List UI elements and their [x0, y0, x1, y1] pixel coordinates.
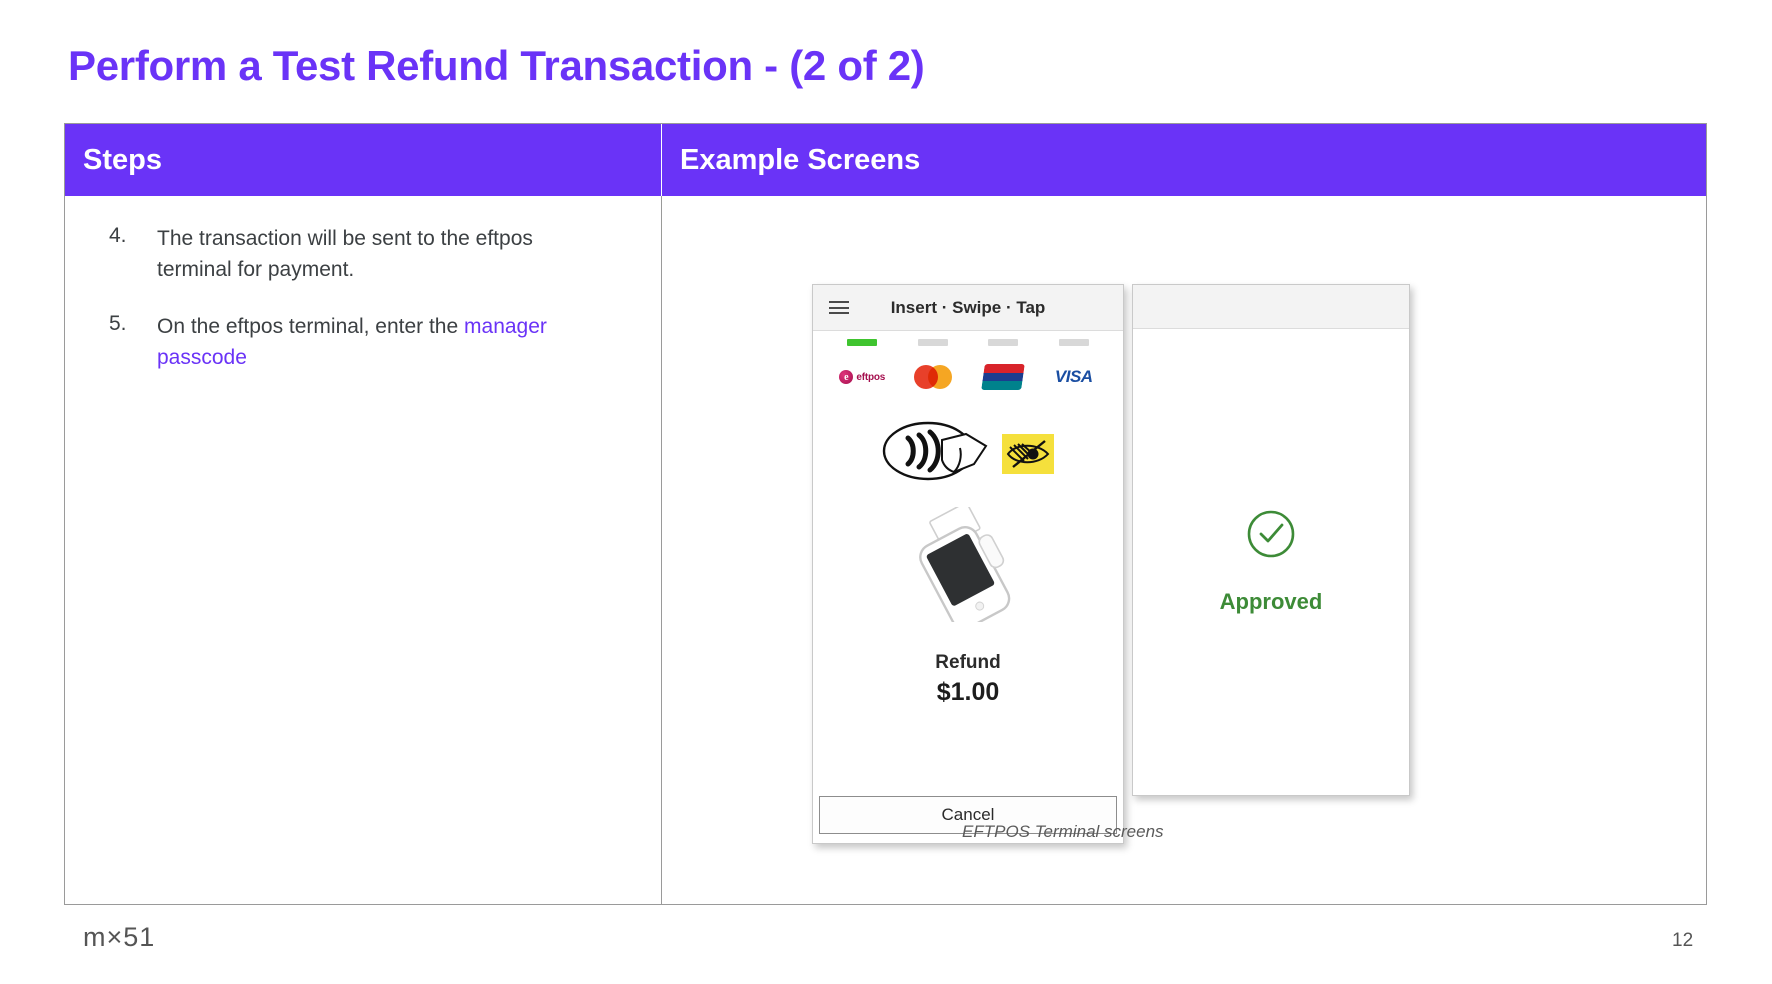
screens-caption: EFTPOS Terminal screens	[962, 822, 1164, 842]
step-text-plain: The transaction will be sent to the eftp…	[157, 227, 533, 281]
screens-container: Insert · Swipe · Tap e eftpos	[662, 196, 1706, 904]
step-text: The transaction will be sent to the eftp…	[157, 224, 597, 285]
check-circle-icon	[1246, 509, 1296, 559]
card-scheme-visa: VISA	[1039, 339, 1110, 392]
card-scheme-unionpay: UnionPay	[968, 339, 1039, 392]
screen-one-header-title: Insert · Swipe · Tap	[813, 298, 1123, 318]
steps-table: Steps Example Screens 4. The transaction…	[64, 123, 1707, 905]
card-indicator-bar	[918, 339, 948, 346]
hamburger-menu-icon[interactable]	[829, 298, 849, 318]
example-screens-cell: Insert · Swipe · Tap e eftpos	[662, 196, 1706, 904]
brand-logo: m×51	[83, 922, 155, 953]
mastercard-logo-icon	[914, 362, 952, 392]
card-indicator-bar	[847, 339, 877, 346]
contactless-tap-icon	[882, 420, 990, 487]
page-number: 12	[1672, 930, 1693, 952]
visa-logo-text: VISA	[1055, 367, 1093, 387]
step-number: 5.	[87, 312, 157, 373]
table-header-row: Steps Example Screens	[65, 124, 1706, 196]
status-badge: Approved	[1220, 589, 1323, 615]
terminal-screen-approved: Approved	[1132, 284, 1410, 796]
amount-block: Refund $1.00	[813, 652, 1123, 707]
card-scheme-mastercard	[898, 339, 969, 392]
unionpay-logo-icon: UnionPay	[983, 362, 1023, 392]
eftpos-logo-icon: e eftpos	[839, 362, 885, 392]
card-indicator-bar	[1059, 339, 1089, 346]
screen-one-header: Insert · Swipe · Tap	[813, 285, 1123, 331]
table-body-row: 4. The transaction will be sent to the e…	[65, 196, 1706, 904]
step-text-plain: On the eftpos terminal, enter the	[157, 315, 464, 338]
eftpos-mark-icon: e	[839, 370, 853, 384]
page-title: Perform a Test Refund Transaction - (2 o…	[68, 42, 925, 90]
visa-logo-icon: VISA	[1055, 362, 1093, 392]
slide: Perform a Test Refund Transaction - (2 o…	[0, 0, 1772, 984]
contactless-row	[813, 420, 1123, 487]
eftpos-logo-text: eftpos	[856, 372, 885, 383]
unionpay-logo-text: UnionPay	[983, 390, 1023, 416]
card-schemes-row: e eftpos	[813, 331, 1123, 392]
do-not-look-eye-icon	[1002, 434, 1054, 474]
amount-label: Refund	[813, 652, 1123, 674]
screen-two-body: Approved	[1133, 329, 1409, 794]
terminal-screen-insert-swipe-tap: Insert · Swipe · Tap e eftpos	[812, 284, 1124, 844]
step-text: On the eftpos terminal, enter the manage…	[157, 312, 597, 373]
table-header-example-screens: Example Screens	[662, 124, 1706, 196]
step-number: 4.	[87, 224, 157, 285]
card-indicator-bar	[988, 339, 1018, 346]
eftpos-terminal-device-icon	[903, 507, 1033, 622]
steps-cell: 4. The transaction will be sent to the e…	[65, 196, 662, 904]
amount-value: $1.00	[813, 678, 1123, 707]
list-item: 5. On the eftpos terminal, enter the man…	[87, 312, 639, 373]
list-item: 4. The transaction will be sent to the e…	[87, 224, 639, 285]
table-header-steps: Steps	[65, 124, 662, 196]
terminal-illustration	[813, 507, 1123, 622]
screen-two-header	[1133, 285, 1409, 329]
card-scheme-eftpos: e eftpos	[827, 339, 898, 392]
